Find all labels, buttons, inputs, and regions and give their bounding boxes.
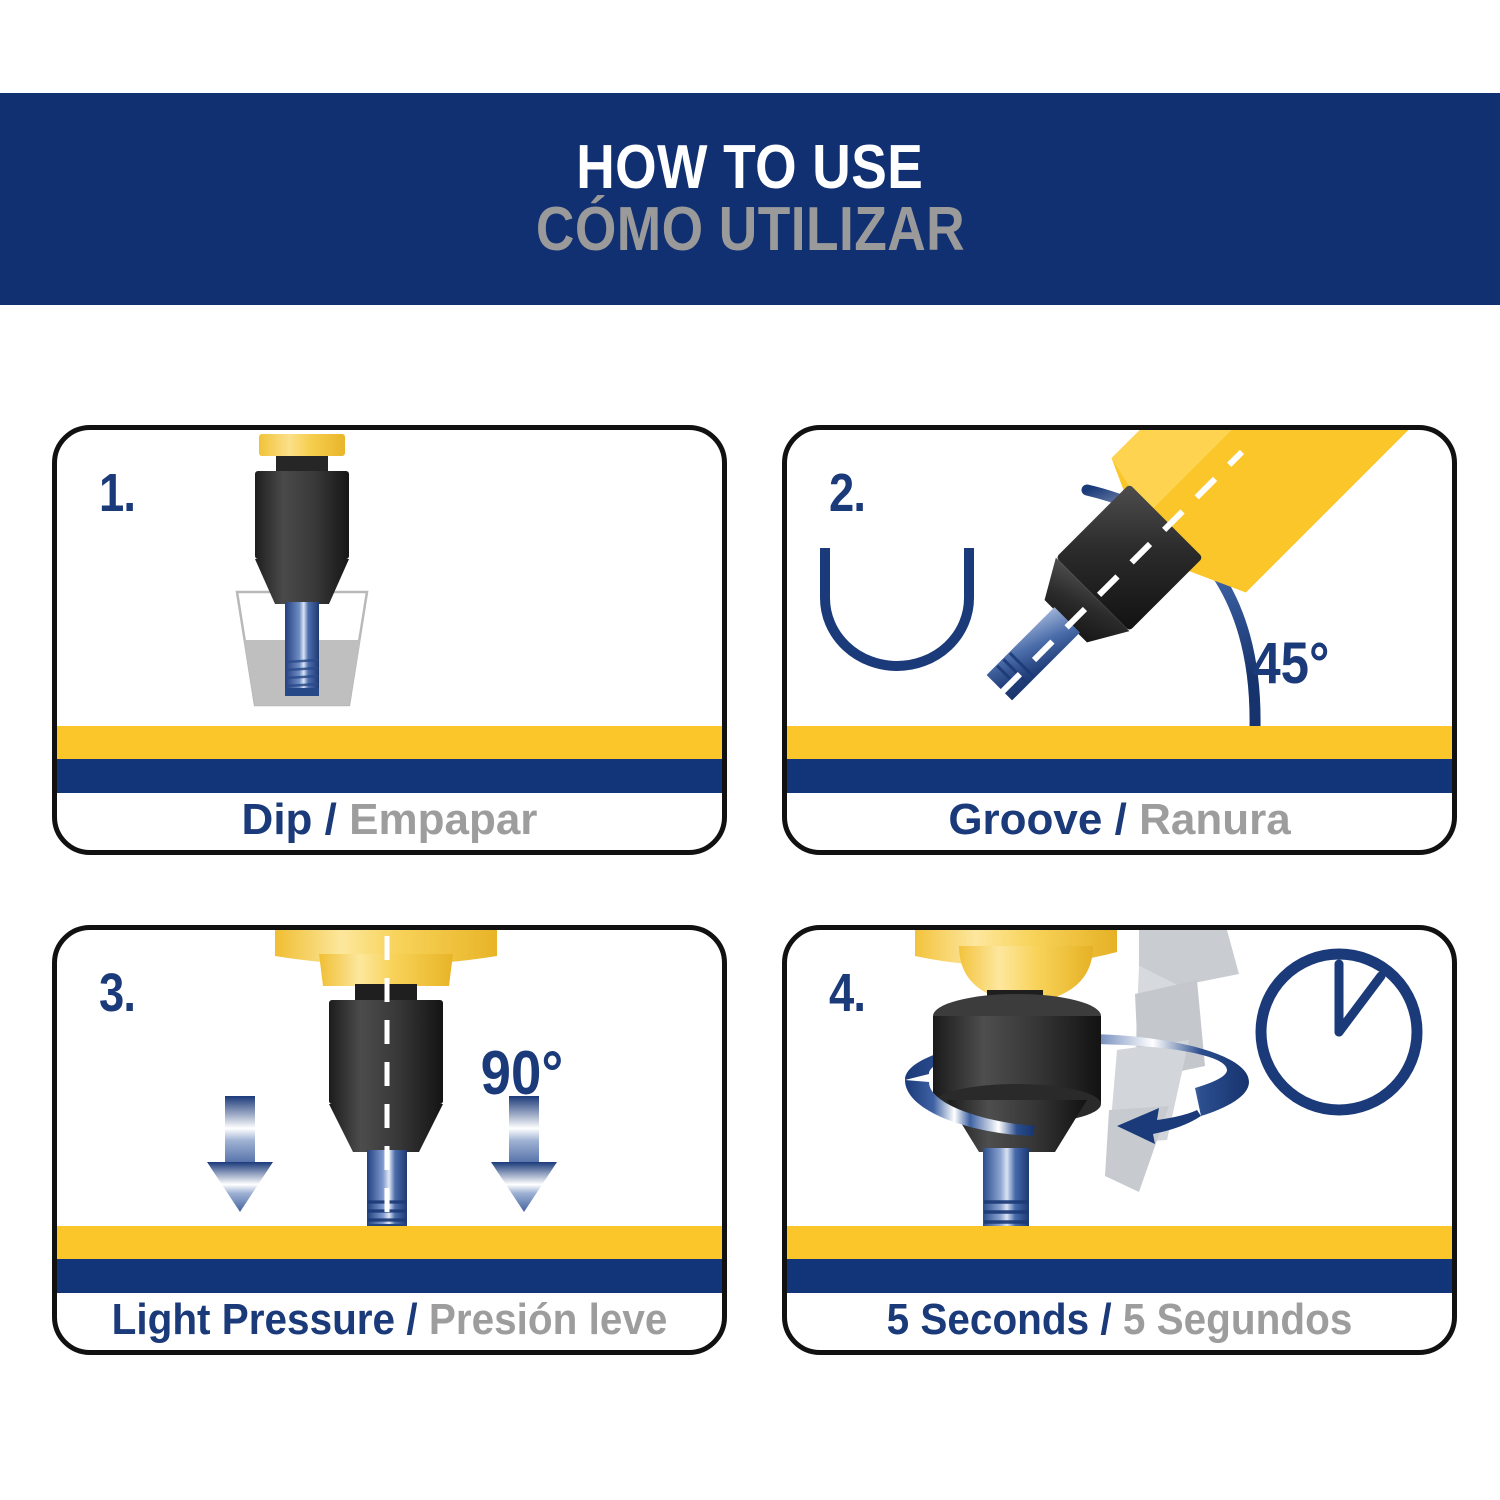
- page-title-english: HOW TO USE: [577, 139, 924, 197]
- caption-separator-1: /: [325, 795, 337, 844]
- tool-icon: [915, 930, 1117, 1244]
- caption-english-1: Dip: [242, 795, 313, 844]
- angle-label-45: 45°: [1252, 630, 1329, 697]
- groove-arc-icon: [825, 548, 969, 666]
- down-arrow-right-icon: [491, 1096, 557, 1212]
- surface-yellow-stripe-2: [787, 726, 1452, 759]
- down-arrow-left-icon: [207, 1096, 273, 1212]
- caption-english-2: Groove: [948, 795, 1102, 844]
- machine-body-icon: [1105, 930, 1239, 1192]
- page-title-spanish: CÓMO UTILIZAR: [535, 201, 964, 259]
- caption-spanish-1: Empapar: [349, 795, 537, 844]
- surface-navy-stripe-1: [57, 759, 722, 793]
- caption-english-4: 5 Seconds: [887, 1295, 1089, 1344]
- step-number-3: 3.: [99, 962, 135, 1024]
- step-card-3[interactable]: 3.: [52, 925, 727, 1355]
- step-caption-4: 5 Seconds / 5 Segundos: [814, 1298, 1426, 1342]
- step-3-illustration: [57, 930, 722, 1270]
- step-number-4: 4.: [829, 962, 865, 1024]
- step-card-4[interactable]: 4.: [782, 925, 1457, 1355]
- surface-navy-stripe-4: [787, 1259, 1452, 1293]
- caption-english-3: Light Pressure: [112, 1295, 395, 1344]
- step-2-illustration: [787, 430, 1452, 770]
- caption-spanish-3: Presión leve: [429, 1295, 668, 1344]
- caption-spanish-2: Ranura: [1139, 795, 1291, 844]
- step-caption-2: Groove / Ranura: [787, 798, 1452, 842]
- step-4-illustration: [787, 930, 1452, 1270]
- steps-grid: 1.: [0, 425, 1500, 1425]
- caption-separator-4: /: [1100, 1295, 1111, 1344]
- caption-separator-3: /: [406, 1295, 417, 1344]
- step-card-1[interactable]: 1.: [52, 425, 727, 855]
- clock-icon: [1261, 954, 1417, 1110]
- step-caption-3: Light Pressure / Presión leve: [84, 1298, 696, 1342]
- step-caption-1: Dip / Empapar: [57, 798, 722, 842]
- surface-yellow-stripe-3: [57, 1226, 722, 1259]
- header-banner: HOW TO USE CÓMO UTILIZAR: [0, 93, 1500, 305]
- surface-navy-stripe-3: [57, 1259, 722, 1293]
- caption-separator-2: /: [1115, 795, 1127, 844]
- step-1-illustration: [57, 430, 722, 770]
- surface-yellow-stripe-4: [787, 1226, 1452, 1259]
- angle-label-90: 90°: [481, 1038, 564, 1109]
- surface-navy-stripe-2: [787, 759, 1452, 793]
- surface-yellow-stripe-1: [57, 726, 722, 759]
- step-card-2[interactable]: 2.: [782, 425, 1457, 855]
- step-number-2: 2.: [829, 462, 865, 524]
- step-number-1: 1.: [99, 462, 135, 524]
- caption-spanish-4: 5 Segundos: [1123, 1295, 1352, 1344]
